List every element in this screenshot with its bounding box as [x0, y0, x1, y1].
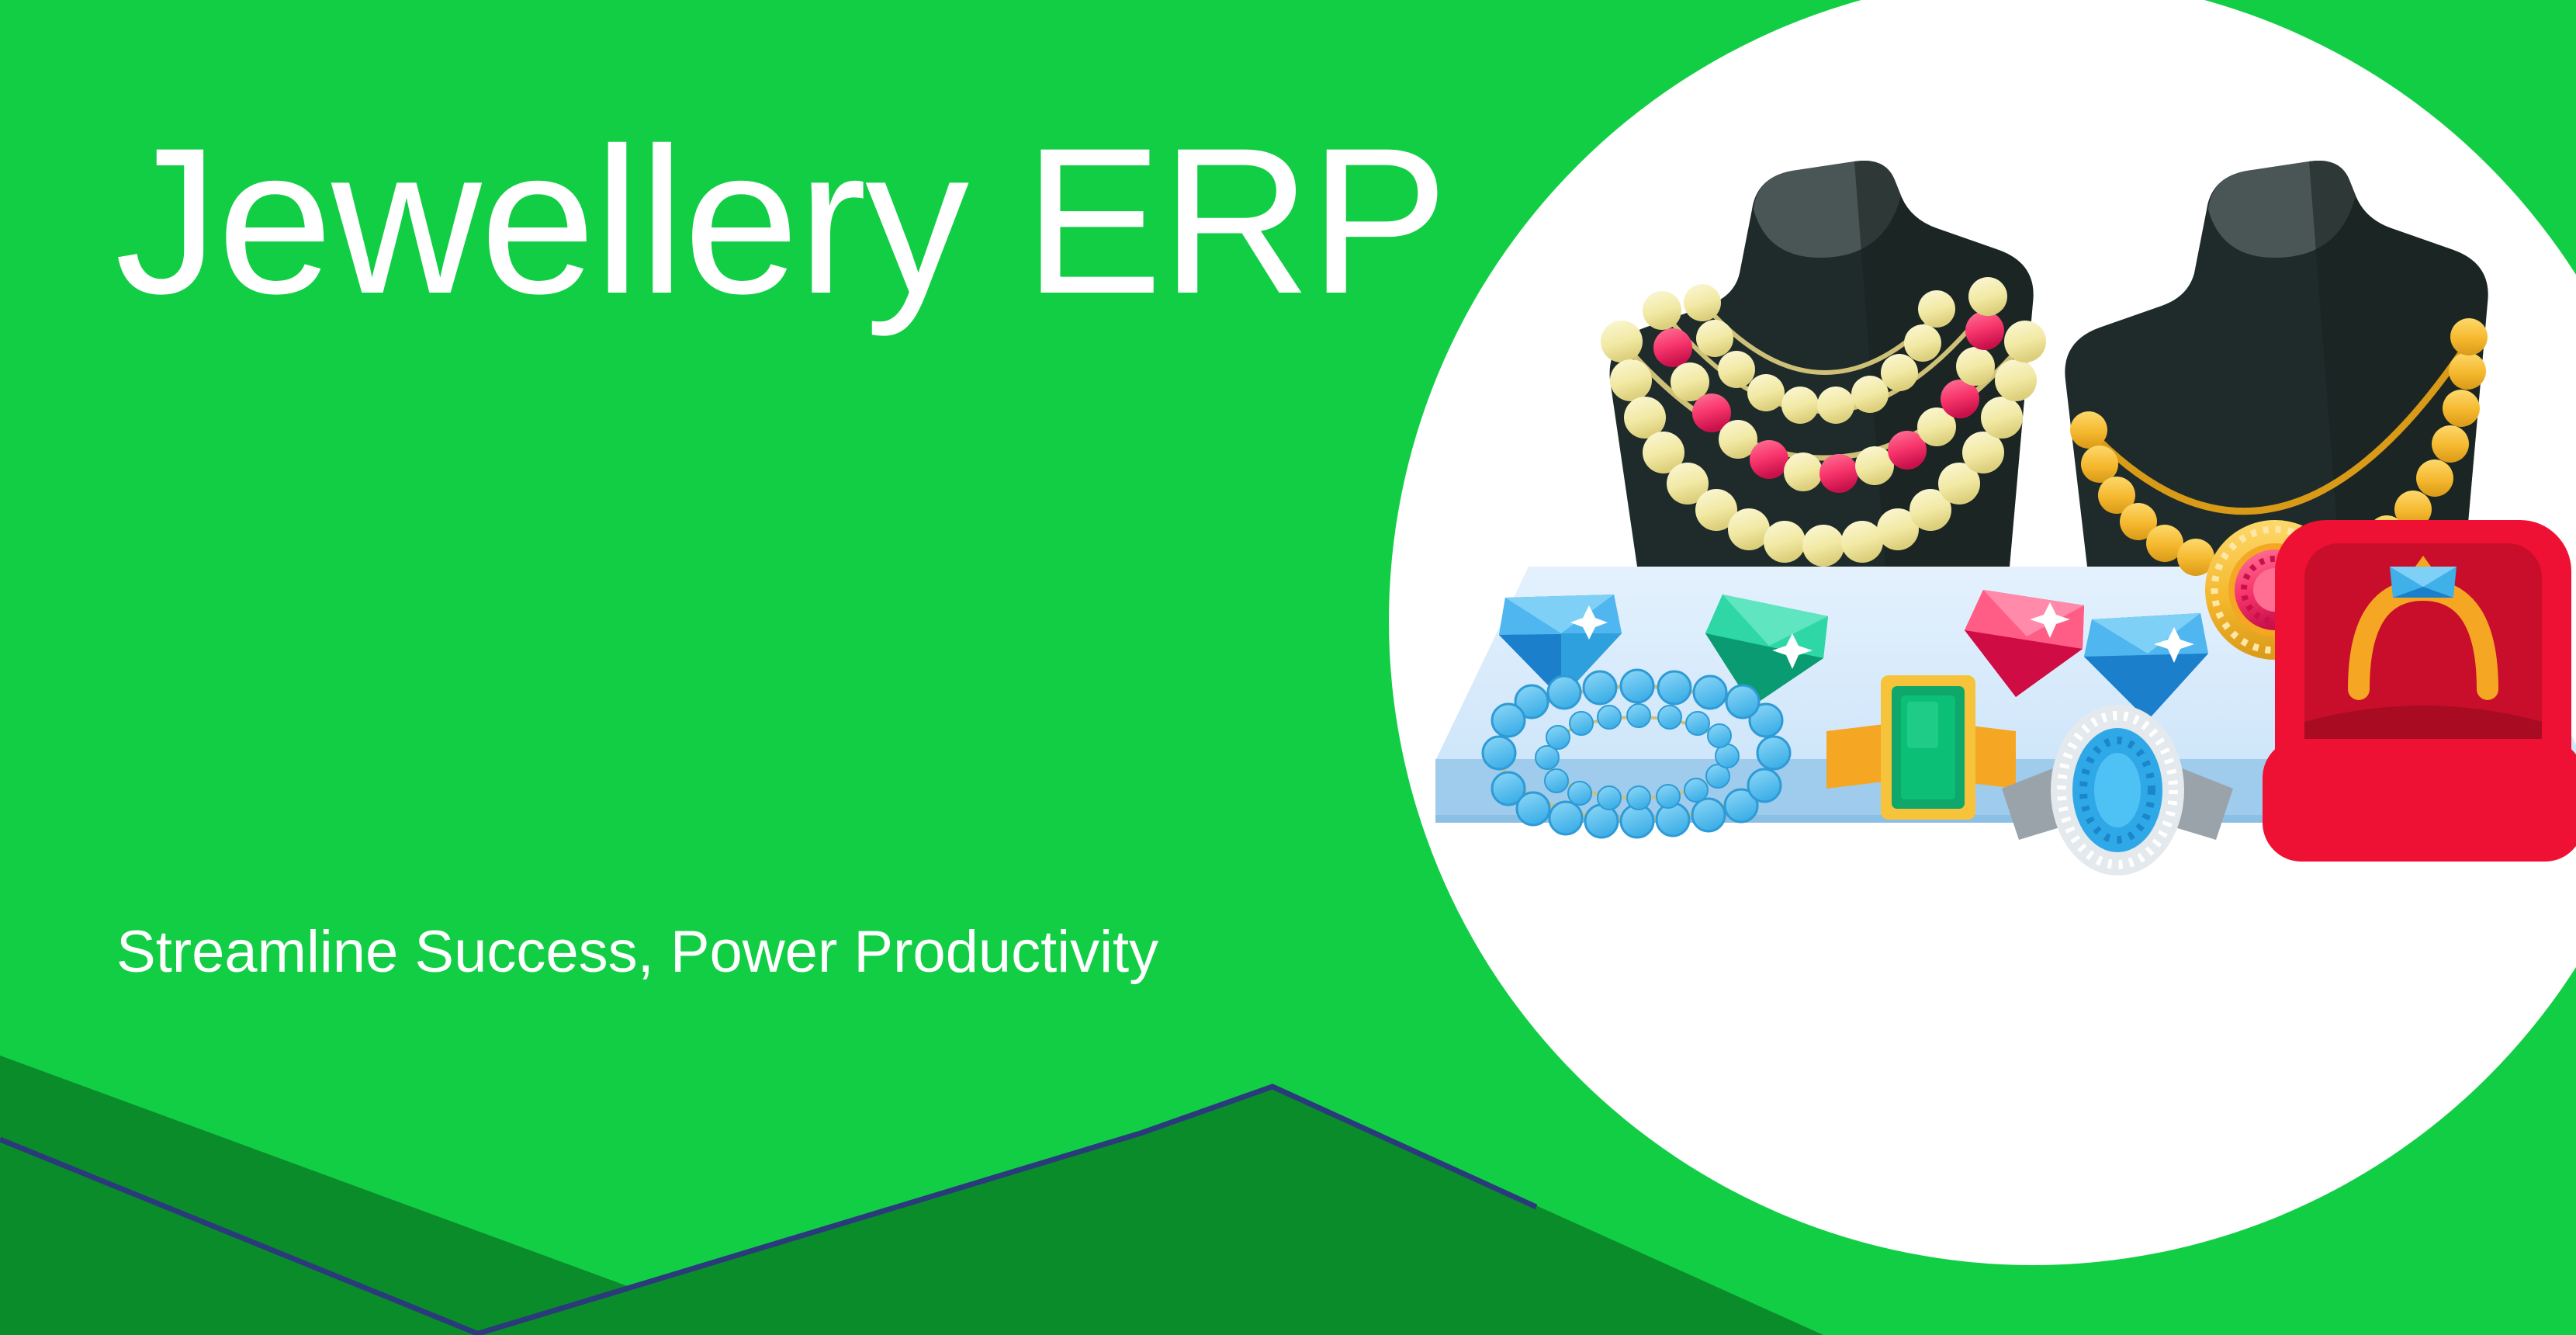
hero-text-block: Jewellery ERP Streamline Success, Power … [0, 0, 1474, 1335]
page-title: Jewellery ERP [115, 116, 1447, 324]
ring-box [2263, 520, 2576, 862]
jewellery-display-illustration [1389, 0, 2576, 1265]
white-circle-panel [1389, 0, 2576, 1265]
page-subtitle: Streamline Success, Power Productivity [116, 920, 1158, 985]
bust-left [1601, 161, 2046, 567]
jewellery-erp-banner: Jewellery ERP Streamline Success, Power … [0, 0, 2576, 1335]
